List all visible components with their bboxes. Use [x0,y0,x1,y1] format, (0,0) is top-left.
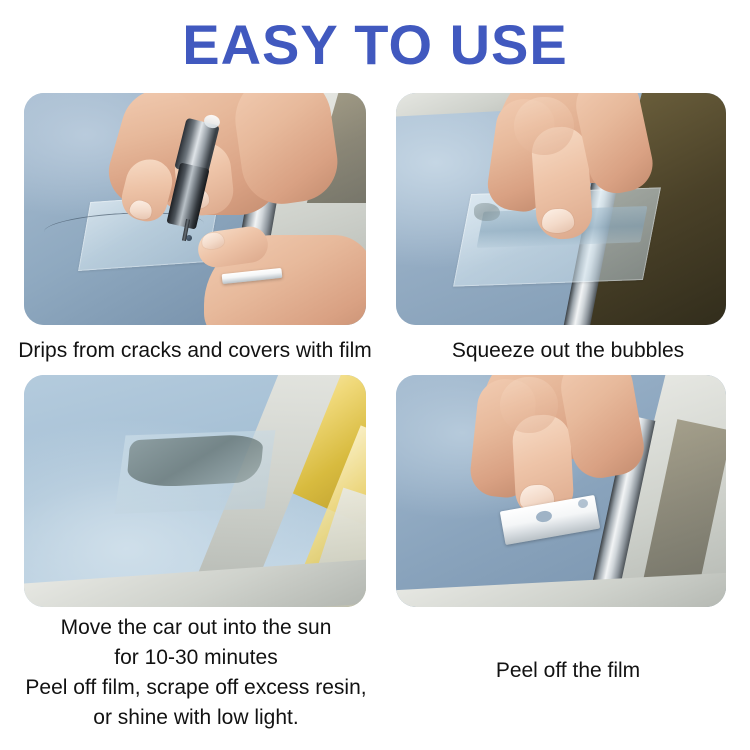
resin-spot [474,203,500,221]
step-3-image [24,375,366,607]
cured-resin [126,433,264,488]
step-4-image [396,375,726,607]
page-title: EASY TO USE [0,16,750,74]
caption-line: Peel off film, scrape off excess resin, [0,673,392,703]
caption-line: Move the car out into the sun [0,613,392,643]
step-1-caption: Drips from cracks and covers with film [0,336,390,366]
step-2-caption: Squeeze out the bubbles [392,336,744,366]
step-4-caption: Peel off the film [392,656,744,686]
caption-line: Squeeze out the bubbles [392,336,744,366]
caption-line: Peel off the film [392,656,744,686]
caption-line: or shine with low light. [0,703,392,733]
step-2-image [396,93,726,325]
caption-line: for 10-30 minutes [0,643,392,673]
caption-line: Drips from cracks and covers with film [0,336,390,366]
infographic-page: EASY TO USE [0,0,750,750]
step-3-caption: Move the car out into the sun for 10-30 … [0,613,392,733]
step-1-image [24,93,366,325]
